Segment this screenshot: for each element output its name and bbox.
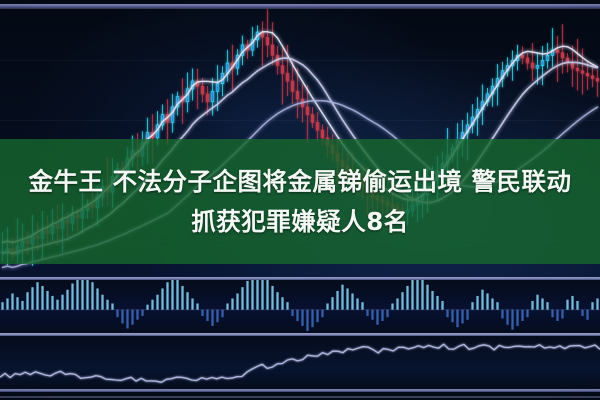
headline-line-2: 抓获犯罪嫌疑人8名 — [191, 202, 409, 242]
headline-line-1: 金牛王 不法分子企图将金属锑偷运出境 警民联动 — [28, 162, 571, 202]
headline-banner: 金牛王 不法分子企图将金属锑偷运出境 警民联动 抓获犯罪嫌疑人8名 — [0, 139, 600, 264]
volume-oscillator-bars — [0, 280, 600, 334]
momentum-indicator-line — [0, 336, 600, 391]
chart-footer-strip — [0, 391, 600, 400]
volume-oscillator-panel — [0, 280, 600, 334]
chart-banner-image: 金牛王 不法分子企图将金属锑偷运出境 警民联动 抓获犯罪嫌疑人8名 — [0, 0, 600, 400]
line-indicator-panel — [0, 336, 600, 391]
